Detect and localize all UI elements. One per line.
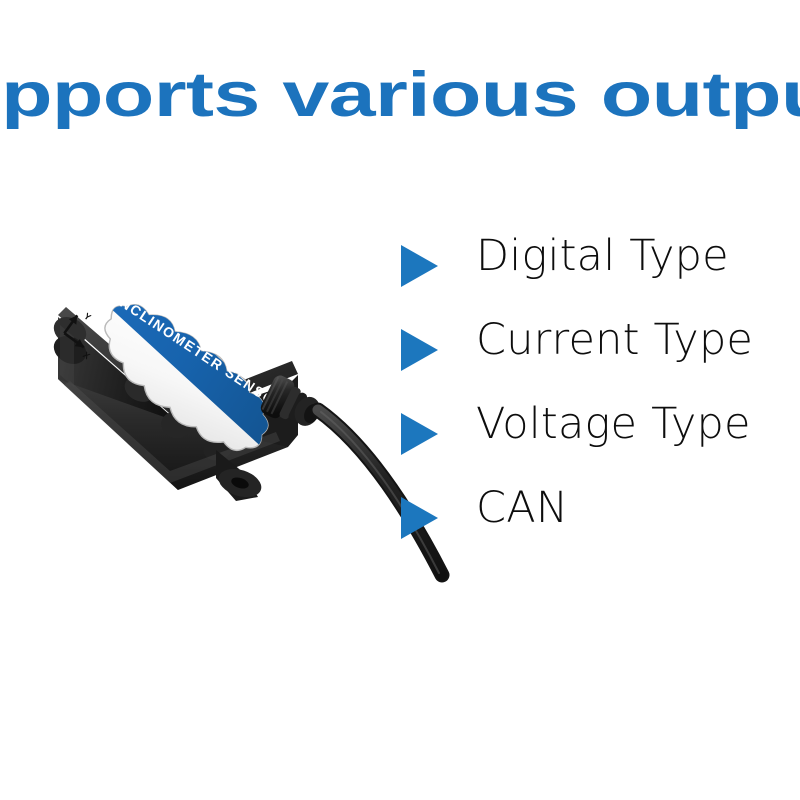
list-item-label: Current Type bbox=[476, 312, 753, 368]
list-item[interactable]: CAN bbox=[396, 480, 786, 564]
product-feature-banner: Supports various outputs bbox=[0, 0, 800, 800]
list-item-label: CAN bbox=[476, 480, 568, 536]
svg-text:Y: Y bbox=[82, 311, 93, 323]
list-item[interactable]: Voltage Type bbox=[396, 396, 786, 480]
list-item-label: Digital Type bbox=[476, 228, 729, 284]
list-item[interactable]: Digital Type bbox=[396, 228, 786, 312]
triangle-right-icon bbox=[401, 245, 438, 287]
triangle-right-icon bbox=[401, 413, 438, 455]
triangle-right-icon bbox=[401, 497, 438, 539]
output-types-list: Digital Type Current Type Voltage Type C… bbox=[396, 228, 786, 564]
page-title: Supports various outputs bbox=[0, 62, 800, 128]
triangle-right-icon bbox=[401, 329, 438, 371]
list-item[interactable]: Current Type bbox=[396, 312, 786, 396]
list-item-label: Voltage Type bbox=[476, 396, 751, 452]
